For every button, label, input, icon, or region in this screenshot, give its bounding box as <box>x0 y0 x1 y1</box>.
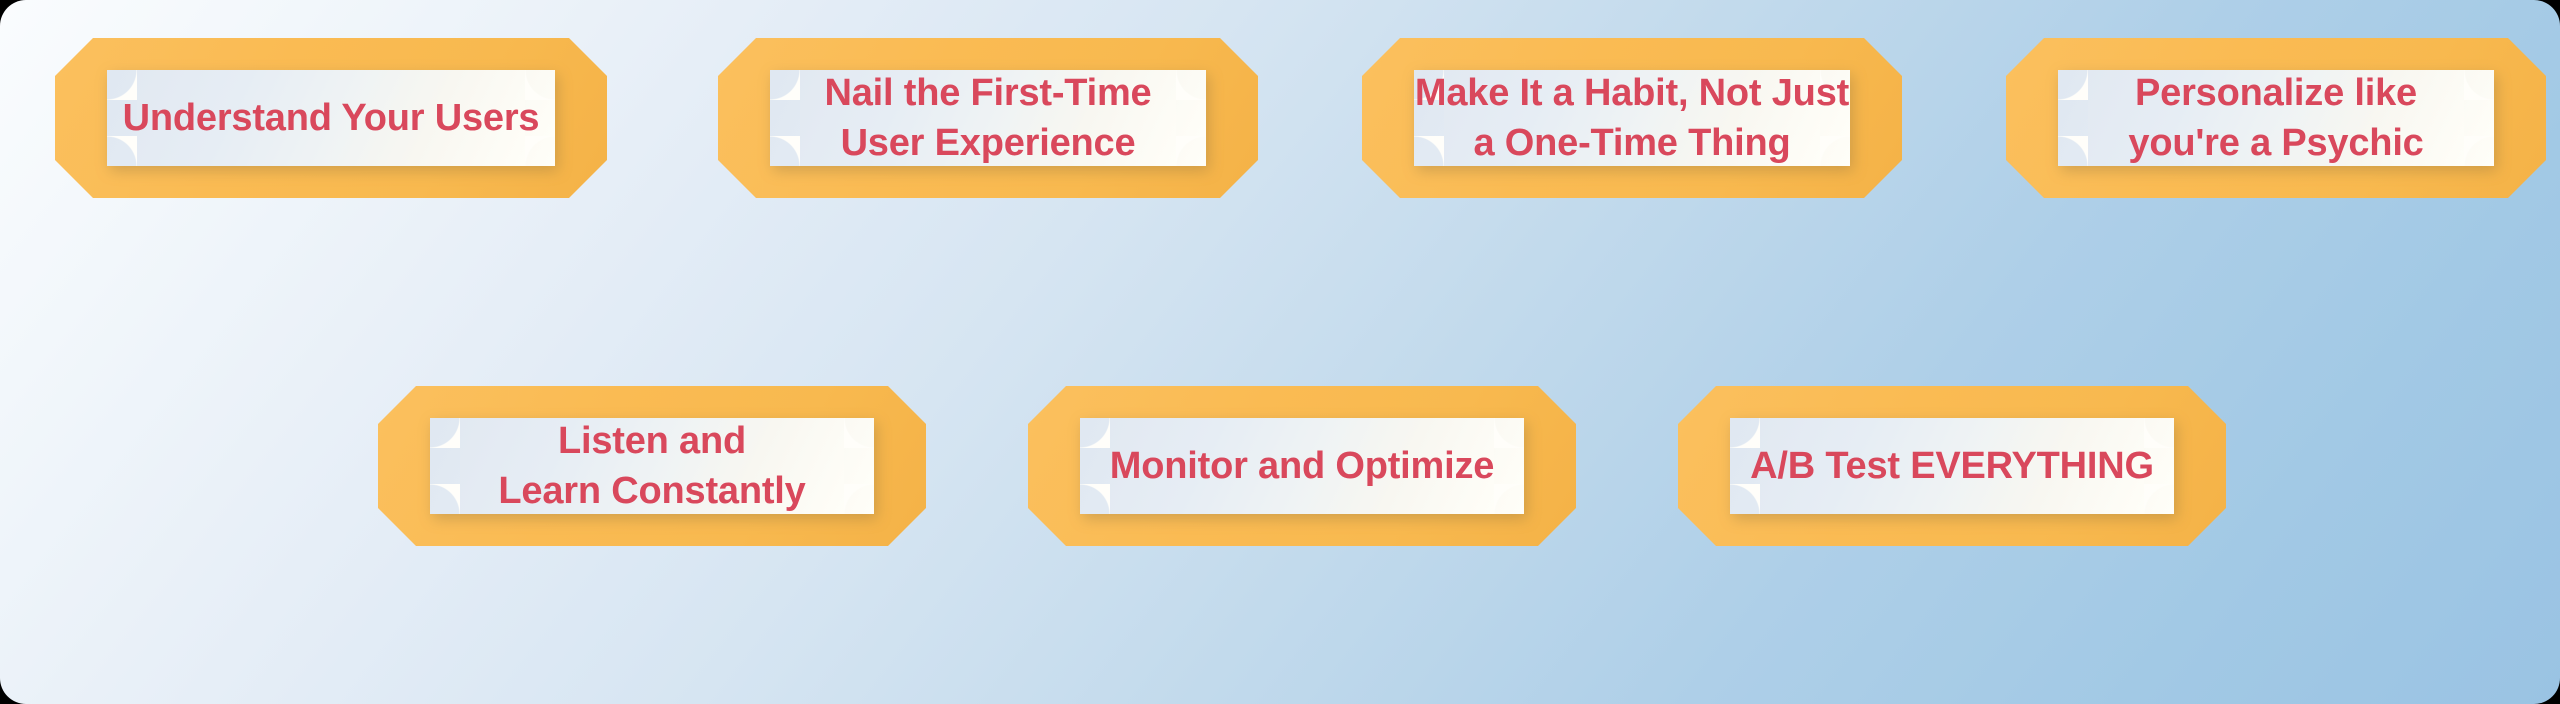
badge-personalize-like-psychic[interactable]: Personalize like you're a Psychic <box>2006 38 2546 198</box>
badge-make-it-a-habit[interactable]: Make It a Habit, Not Just a One-Time Thi… <box>1362 38 1902 198</box>
badge-listen-and-learn-constantly[interactable]: Listen and Learn Constantly <box>378 386 926 546</box>
badge-label: A/B Test EVERYTHING <box>1678 386 2226 546</box>
badge-label: Listen and Learn Constantly <box>378 386 926 546</box>
badge-label: Monitor and Optimize <box>1028 386 1576 546</box>
badge-label: Understand Your Users <box>55 38 607 198</box>
badge-nail-the-first-time-user-experience[interactable]: Nail the First-Time User Experience <box>718 38 1258 198</box>
badge-label: Make It a Habit, Not Just a One-Time Thi… <box>1362 38 1902 198</box>
infographic-canvas: Understand Your UsersNail the First-Time… <box>0 0 2560 704</box>
badge-label: Personalize like you're a Psychic <box>2006 38 2546 198</box>
badge-monitor-and-optimize[interactable]: Monitor and Optimize <box>1028 386 1576 546</box>
badge-ab-test-everything[interactable]: A/B Test EVERYTHING <box>1678 386 2226 546</box>
badge-label: Nail the First-Time User Experience <box>718 38 1258 198</box>
badge-understand-your-users[interactable]: Understand Your Users <box>55 38 607 198</box>
